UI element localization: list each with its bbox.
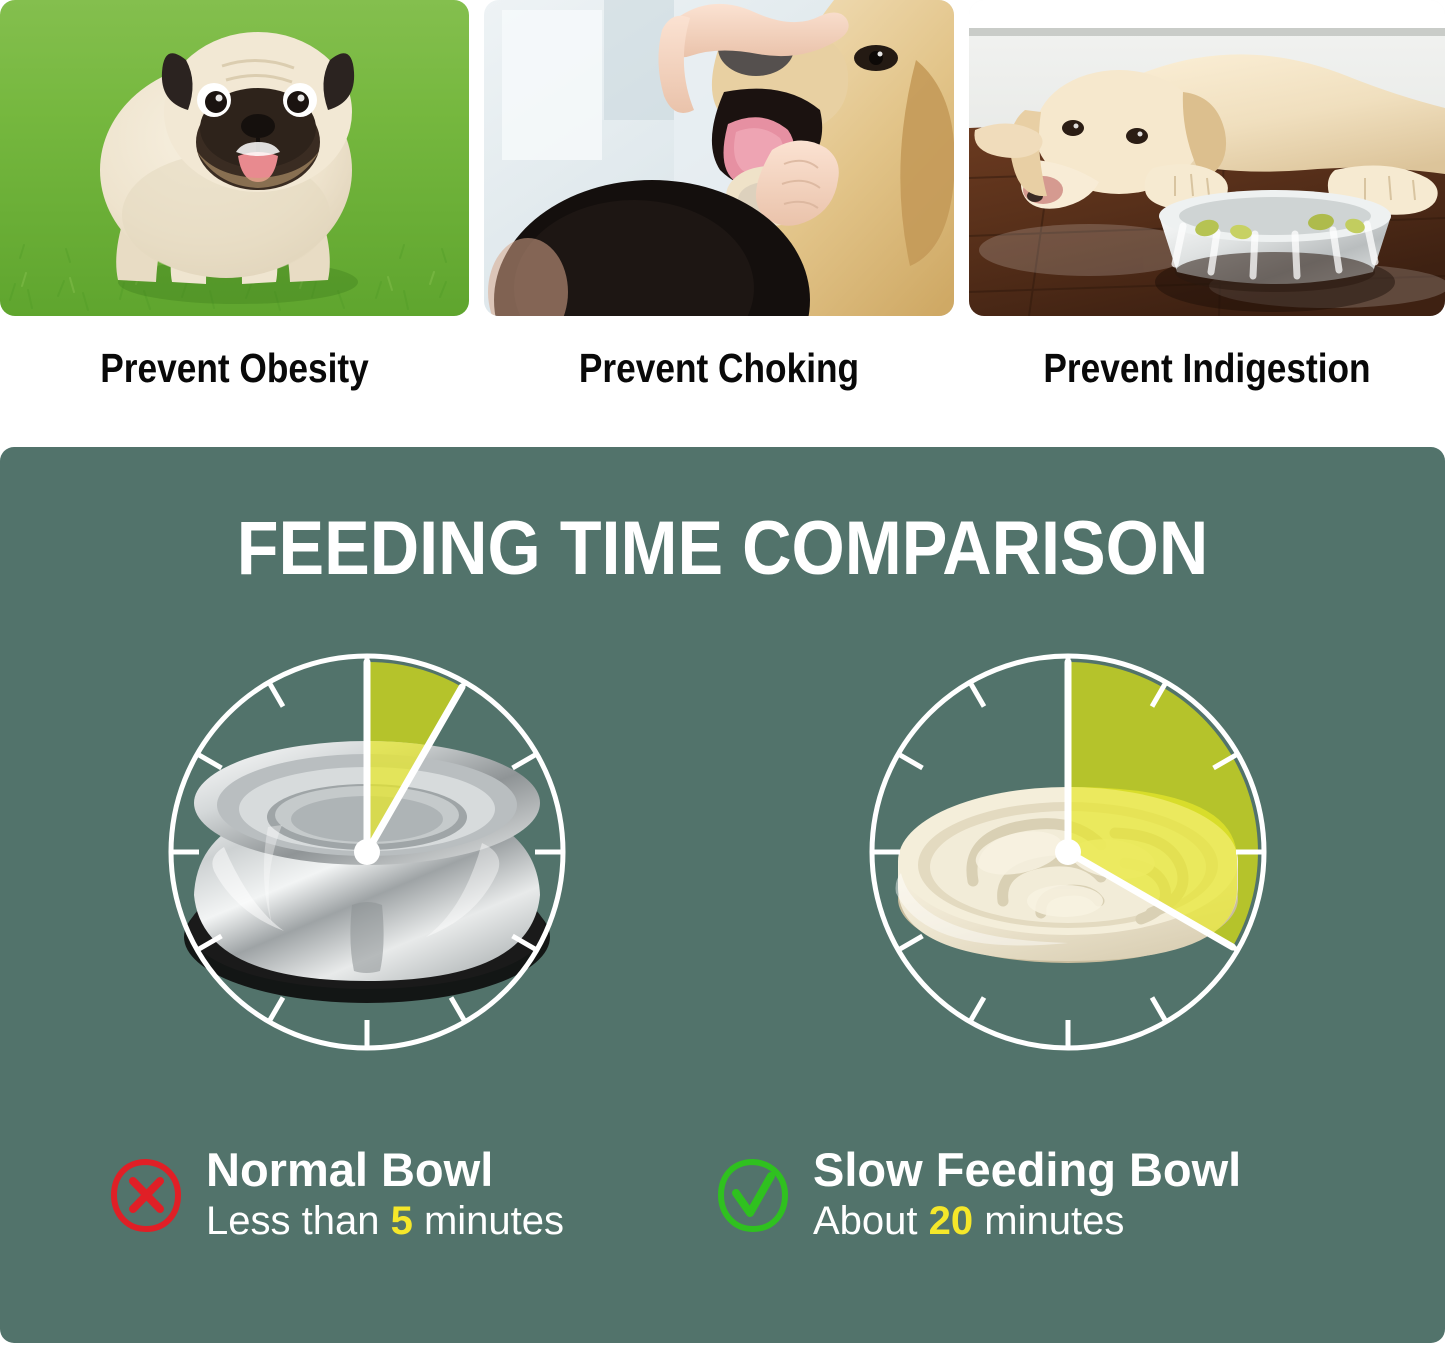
legend-normal-bowl: Normal Bowl Less than 5 minutes bbox=[108, 1130, 564, 1260]
lab-lying-by-bowl-illustration bbox=[969, 0, 1445, 316]
clock-center-hub bbox=[354, 839, 380, 865]
legend-title-normal-bowl: Normal Bowl bbox=[206, 1145, 564, 1196]
photo-prevent-choking bbox=[484, 0, 954, 316]
feeding-time-comparison-panel: FEEDING TIME COMPARISON bbox=[0, 447, 1445, 1343]
caption-prevent-obesity: Prevent Obesity bbox=[33, 341, 436, 395]
legend-text-normal-bowl: Normal Bowl Less than 5 minutes bbox=[206, 1145, 564, 1245]
legend-sub-prefix-normal: Less than bbox=[206, 1199, 391, 1243]
pug-on-grass-illustration bbox=[0, 0, 469, 316]
panel-title: FEEDING TIME COMPARISON bbox=[72, 505, 1373, 592]
legend-sub-suffix-slow: minutes bbox=[973, 1199, 1124, 1243]
infographic-page: Prevent Obesity Prevent Choking Prevent … bbox=[0, 0, 1445, 1353]
clock-face-normal-bowl bbox=[152, 637, 582, 1067]
clock-center-hub bbox=[1055, 839, 1081, 865]
legend-sub-slow-feeding-bowl: About 20 minutes bbox=[813, 1198, 1241, 1245]
legend-sub-normal-bowl: Less than 5 minutes bbox=[206, 1198, 564, 1245]
legend-sub-value-normal: 5 bbox=[391, 1199, 413, 1243]
clock-normal-bowl bbox=[152, 637, 582, 1067]
legend-sub-prefix-slow: About bbox=[813, 1199, 929, 1243]
dog-mouth-open-illustration bbox=[484, 0, 954, 316]
photo-strip bbox=[0, 0, 1445, 316]
check-circle-icon bbox=[715, 1157, 791, 1233]
legend-title-slow-feeding-bowl: Slow Feeding Bowl bbox=[813, 1145, 1241, 1196]
legend-sub-value-slow: 20 bbox=[929, 1199, 974, 1243]
caption-prevent-choking: Prevent Choking bbox=[517, 341, 921, 395]
photo-prevent-obesity bbox=[0, 0, 469, 316]
caption-prevent-indigestion: Prevent Indigestion bbox=[1002, 341, 1411, 395]
legend-slow-feeding-bowl: Slow Feeding Bowl About 20 minutes bbox=[715, 1130, 1241, 1260]
clock-slow-feeding-bowl bbox=[853, 637, 1283, 1067]
legend-text-slow-feeding-bowl: Slow Feeding Bowl About 20 minutes bbox=[813, 1145, 1241, 1245]
clock-face-slow-feeding-bowl bbox=[853, 637, 1283, 1067]
cross-circle-icon bbox=[108, 1157, 184, 1233]
photo-prevent-indigestion bbox=[969, 0, 1445, 316]
legend-sub-suffix-normal: minutes bbox=[413, 1199, 564, 1243]
